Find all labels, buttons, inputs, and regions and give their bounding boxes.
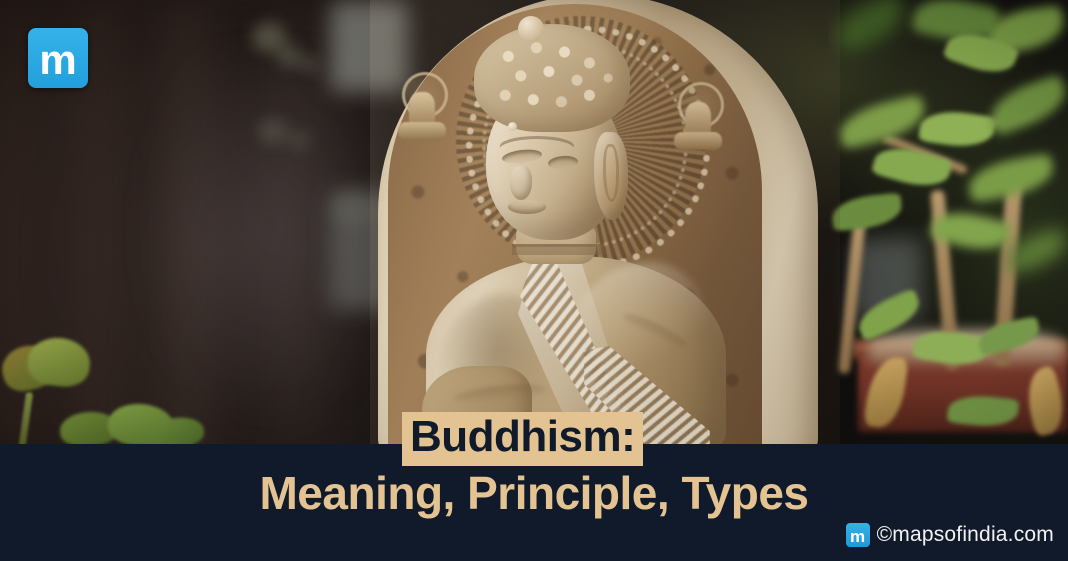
- mini-buddha-relief: [670, 82, 726, 156]
- watermark-text: ©mapsofindia.com: [877, 523, 1054, 547]
- mapsofindia-logo[interactable]: m: [28, 28, 88, 88]
- leaf: [835, 94, 929, 150]
- leaf: [918, 107, 996, 151]
- logo-letter-m-icon: m: [39, 39, 76, 81]
- title-line-1: Buddhism:: [402, 412, 643, 466]
- watermark-logo-letter-m: m: [850, 528, 865, 545]
- mini-buddha-relief: [394, 72, 450, 146]
- buddha-mouth: [508, 200, 546, 214]
- buddha-statue: [370, 0, 840, 450]
- leaf: [830, 0, 911, 54]
- leaf: [831, 192, 904, 231]
- urna-forehead-mark: [508, 122, 517, 131]
- article-banner: Buddhism: Meaning, Principle, Types m m …: [0, 0, 1068, 561]
- buddha-hair-curls: [474, 24, 630, 132]
- bonsai-plant: [828, 0, 1068, 450]
- ushnisha-topknot: [518, 16, 544, 42]
- buddha-ear: [594, 132, 628, 220]
- leaf: [966, 153, 1057, 203]
- leaf: [984, 73, 1068, 136]
- background-light-glow: [140, 60, 400, 440]
- title-line-2: Meaning, Principle, Types: [0, 468, 1068, 518]
- watermark: m ©mapsofindia.com: [846, 523, 1054, 547]
- buddha-nose: [510, 166, 532, 200]
- neck-rings: [512, 244, 604, 278]
- watermark-logo-icon: m: [846, 523, 870, 547]
